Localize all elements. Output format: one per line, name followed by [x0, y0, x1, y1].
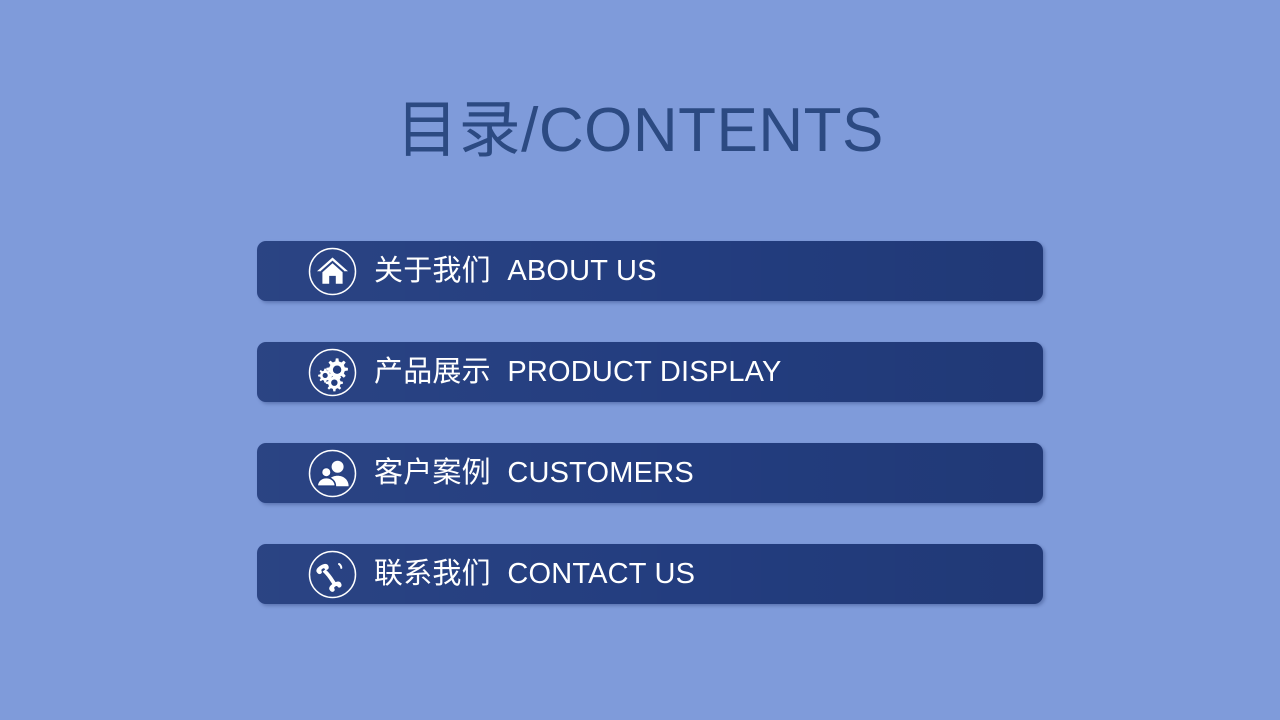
users-icon — [308, 449, 357, 498]
phone-handset-icon — [308, 550, 357, 599]
contents-item-label: 关于我们 ABOUT US — [374, 257, 657, 286]
contents-list: 关于我们 ABOUT US — [257, 241, 1043, 604]
contents-item-label: 客户案例 CUSTOMERS — [374, 459, 694, 488]
contents-item-customers[interactable]: 客户案例 CUSTOMERS — [257, 443, 1043, 503]
contents-item-label: 联系我们 CONTACT US — [374, 560, 695, 589]
home-icon — [308, 247, 357, 296]
gears-icon — [308, 348, 357, 397]
contents-item-product-display[interactable]: 产品展示 PRODUCT DISPLAY — [257, 342, 1043, 402]
title-block: 目录/CONTENTS — [0, 98, 1280, 163]
contents-item-about-us[interactable]: 关于我们 ABOUT US — [257, 241, 1043, 301]
contents-item-contact-us[interactable]: 联系我们 CONTACT US — [257, 544, 1043, 604]
presentation-slide: 目录/CONTENTS 关于我们 ABOUT US — [0, 0, 1280, 720]
page-title: 目录/CONTENTS — [396, 98, 884, 163]
contents-item-label: 产品展示 PRODUCT DISPLAY — [374, 358, 782, 387]
